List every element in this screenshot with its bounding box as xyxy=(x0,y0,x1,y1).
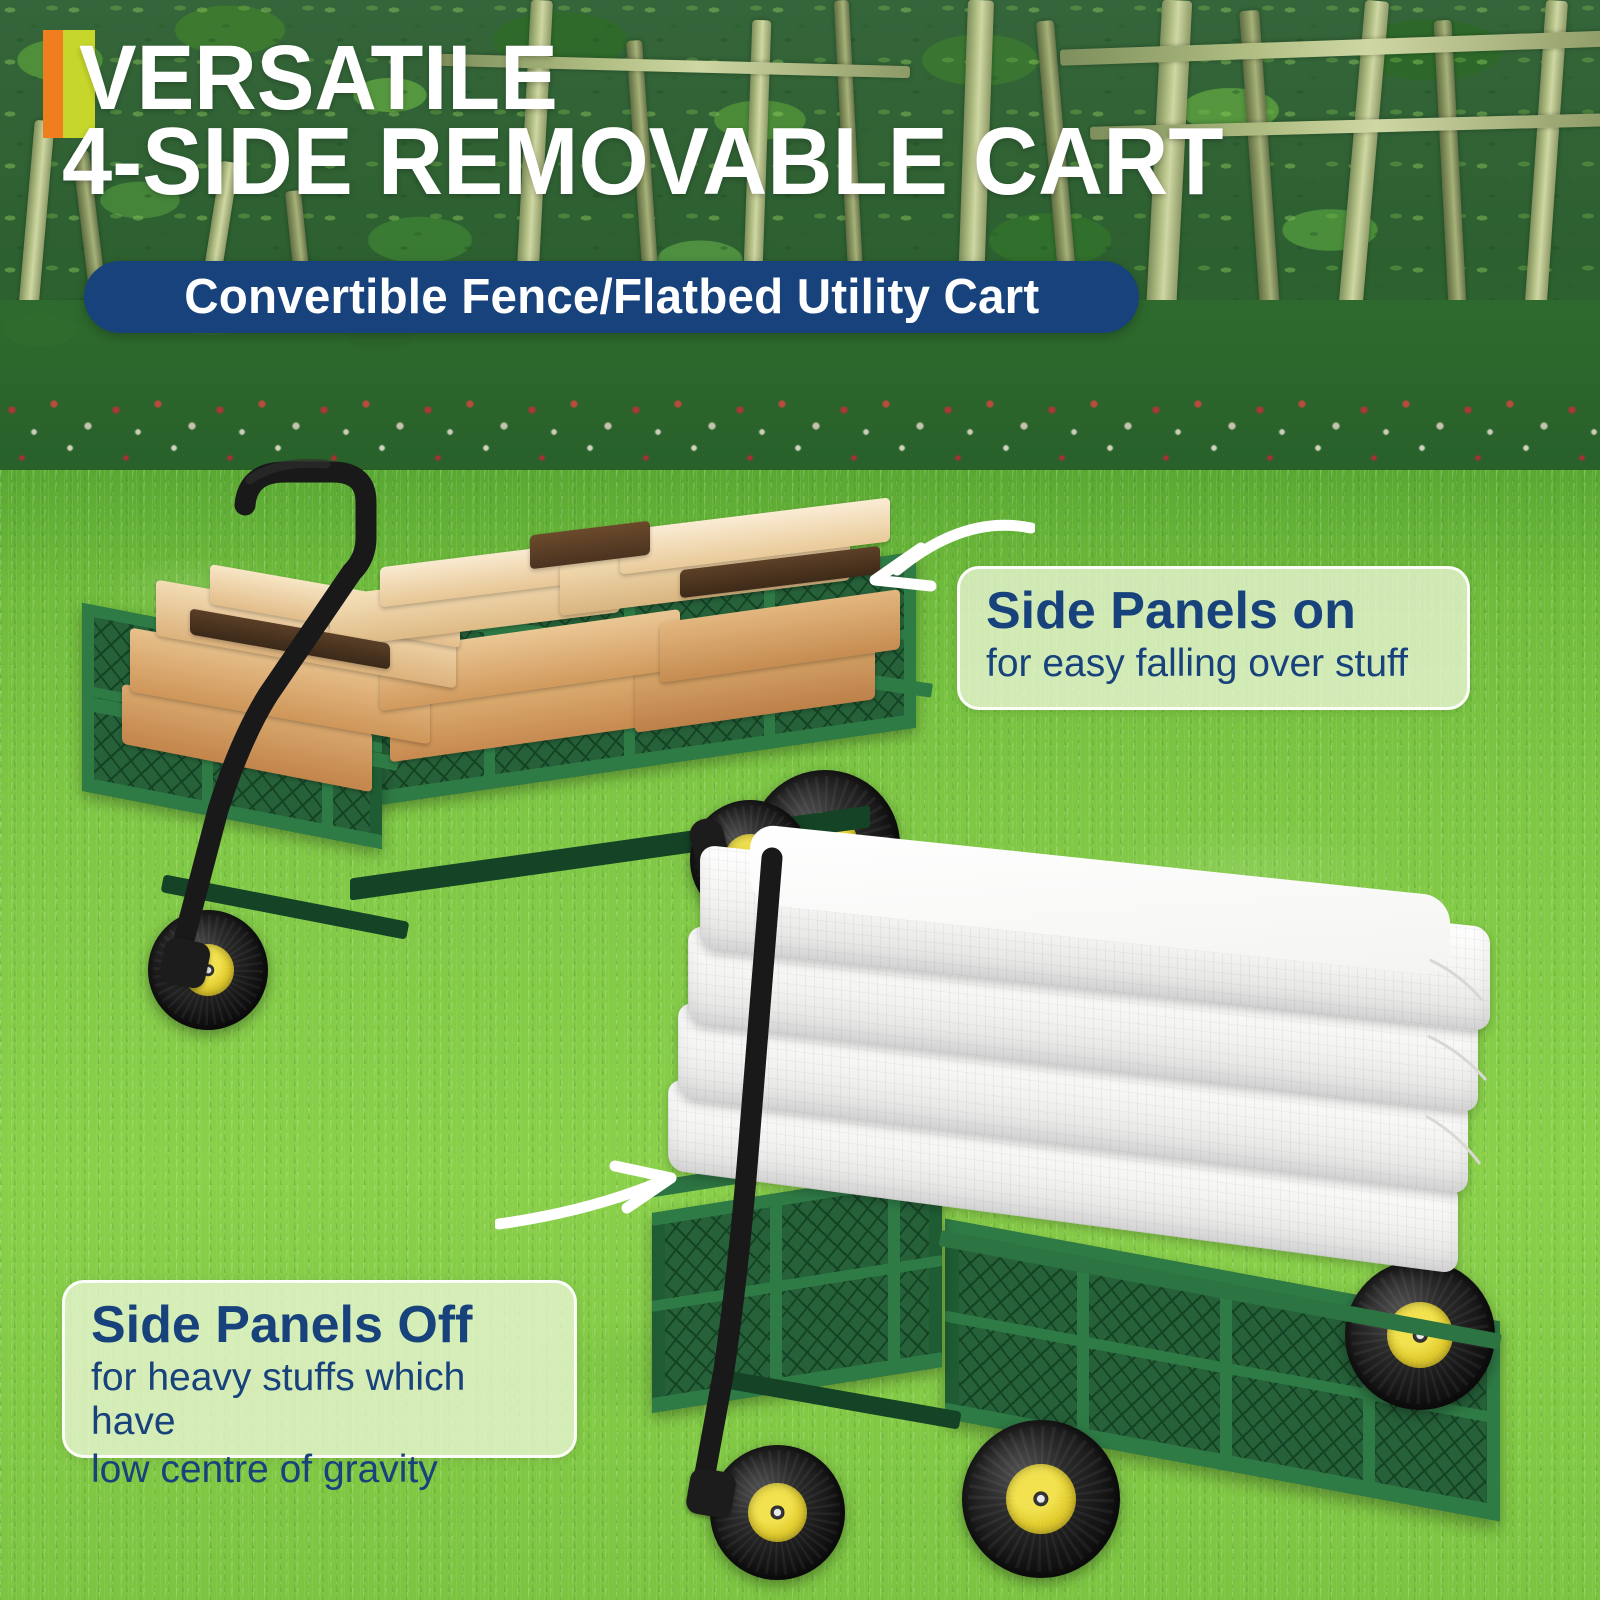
accent-bar-orange xyxy=(43,30,63,138)
subtitle-banner: Convertible Fence/Flatbed Utility Cart xyxy=(84,261,1139,333)
callout-off-subtitle-line-2: low centre of gravity xyxy=(91,1448,550,1492)
callout-on-subtitle: for easy falling over stuff xyxy=(986,642,1443,686)
headline-line-2: 4-SIDE REMOVABLE CART xyxy=(62,120,1303,204)
page-title: VERSATILE 4-SIDE REMOVABLE CART xyxy=(62,36,1303,204)
subtitle-text: Convertible Fence/Flatbed Utility Cart xyxy=(184,269,1039,325)
product-infographic: VERSATILE 4-SIDE REMOVABLE CART Converti… xyxy=(0,0,1600,1600)
callout-side-panels-off: Side Panels Off for heavy stuffs which h… xyxy=(62,1280,577,1458)
cart2-wheel-rear-left-hub xyxy=(1006,1464,1076,1534)
product-cart-flatbed xyxy=(600,790,1600,1590)
callout-on-title: Side Panels on xyxy=(986,585,1443,638)
callout-side-panels-on: Side Panels on for easy falling over stu… xyxy=(957,566,1470,710)
cart2-handle-grip-end xyxy=(684,1466,737,1519)
callout-off-title: Side Panels Off xyxy=(91,1299,550,1352)
callout-off-subtitle-line-1: for heavy stuffs which have xyxy=(91,1356,550,1444)
